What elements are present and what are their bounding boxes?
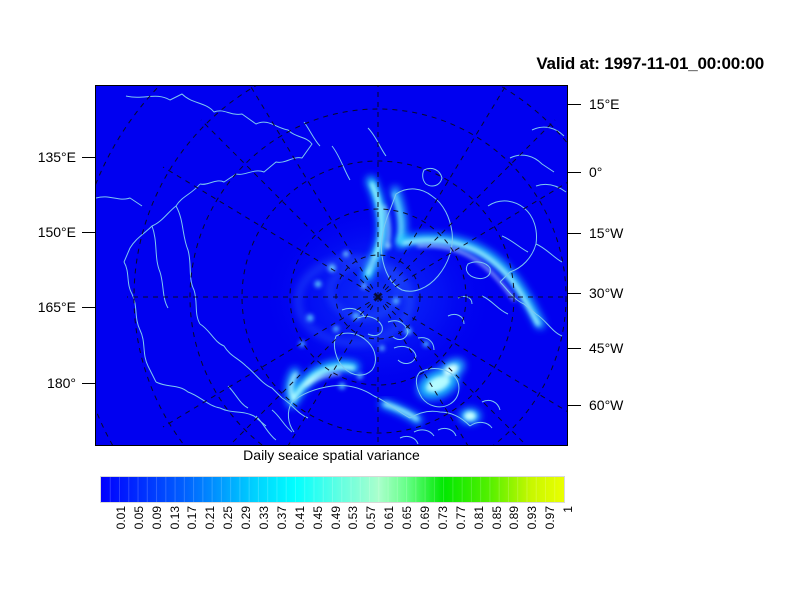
axis-label-left-3: 180°: [0, 375, 76, 391]
left-tick-3: [82, 383, 95, 384]
right-tick-3: [568, 293, 581, 294]
colorbar-tick-label: 0.77: [454, 506, 468, 529]
axis-label-left-0: 135°E: [0, 149, 76, 165]
colorbar-tick-label: 0.33: [257, 506, 271, 529]
colorbar-tick-label: 0.17: [185, 506, 199, 529]
colorbar-tick-label: 0.85: [490, 506, 504, 529]
page-title: Valid at: 1997-11-01_00:00:00: [536, 54, 764, 74]
axis-label-right-5: 60°W: [589, 397, 623, 413]
colorbar-tick-label: 0.89: [507, 506, 521, 529]
map-plot: [96, 86, 567, 445]
right-tick-1: [568, 172, 581, 173]
right-tick-0: [568, 104, 581, 105]
colorbar-tick-label: 0.53: [346, 506, 360, 529]
colorbar-tick-label: 0.21: [203, 506, 217, 529]
colorbar-tick-label: 0.61: [382, 506, 396, 529]
axis-label-right-1: 0°: [589, 164, 602, 180]
colorbar-tick-label: 0.37: [275, 506, 289, 529]
right-tick-5: [568, 405, 581, 406]
left-tick-1: [82, 232, 95, 233]
colorbar-tick-label: 0.41: [293, 506, 307, 529]
left-tick-2: [82, 307, 95, 308]
colorbar-tick-label: 0.97: [543, 506, 557, 529]
colorbar-tick-label: 1: [561, 506, 575, 513]
axis-label-right-0: 15°E: [589, 96, 620, 112]
map-panel[interactable]: [95, 85, 568, 446]
colorbar-tick-label: 0.25: [221, 506, 235, 529]
right-tick-4: [568, 348, 581, 349]
colorbar-tick-label: 0.45: [311, 506, 325, 529]
axis-label-right-2: 15°W: [589, 225, 623, 241]
axis-label-right-3: 30°W: [589, 285, 623, 301]
colorbar-tick-label: 0.81: [472, 506, 486, 529]
left-tick-0: [82, 157, 95, 158]
axis-label-left-2: 165°E: [0, 299, 76, 315]
colorbar-tick-label: 0.69: [418, 506, 432, 529]
colorbar-tick-label: 0.73: [436, 506, 450, 529]
colorbar-tick-label: 0.29: [239, 506, 253, 529]
right-tick-2: [568, 233, 581, 234]
axis-label-right-4: 45°W: [589, 340, 623, 356]
colorbar-tick-label: 0.49: [329, 506, 343, 529]
colorbar-tick-label: 0.09: [150, 506, 164, 529]
colorbar-tick-label: 0.65: [400, 506, 414, 529]
colorbar-tick-labels: 0.010.050.090.130.170.210.250.290.330.37…: [100, 506, 565, 566]
colorbar[interactable]: [100, 476, 565, 503]
figure-canvas: Valid at: 1997-11-01_00:00:00: [0, 0, 792, 612]
axis-label-left-1: 150°E: [0, 224, 76, 240]
colorbar-tick-label: 0.13: [168, 506, 182, 529]
colorbar-tick-label: 0.05: [132, 506, 146, 529]
colorbar-tick-label: 0.57: [364, 506, 378, 529]
colorbar-tick-label: 0.93: [525, 506, 539, 529]
plot-caption: Daily seaice spatial variance: [95, 447, 568, 463]
colorbar-tick-label: 0.01: [114, 506, 128, 529]
